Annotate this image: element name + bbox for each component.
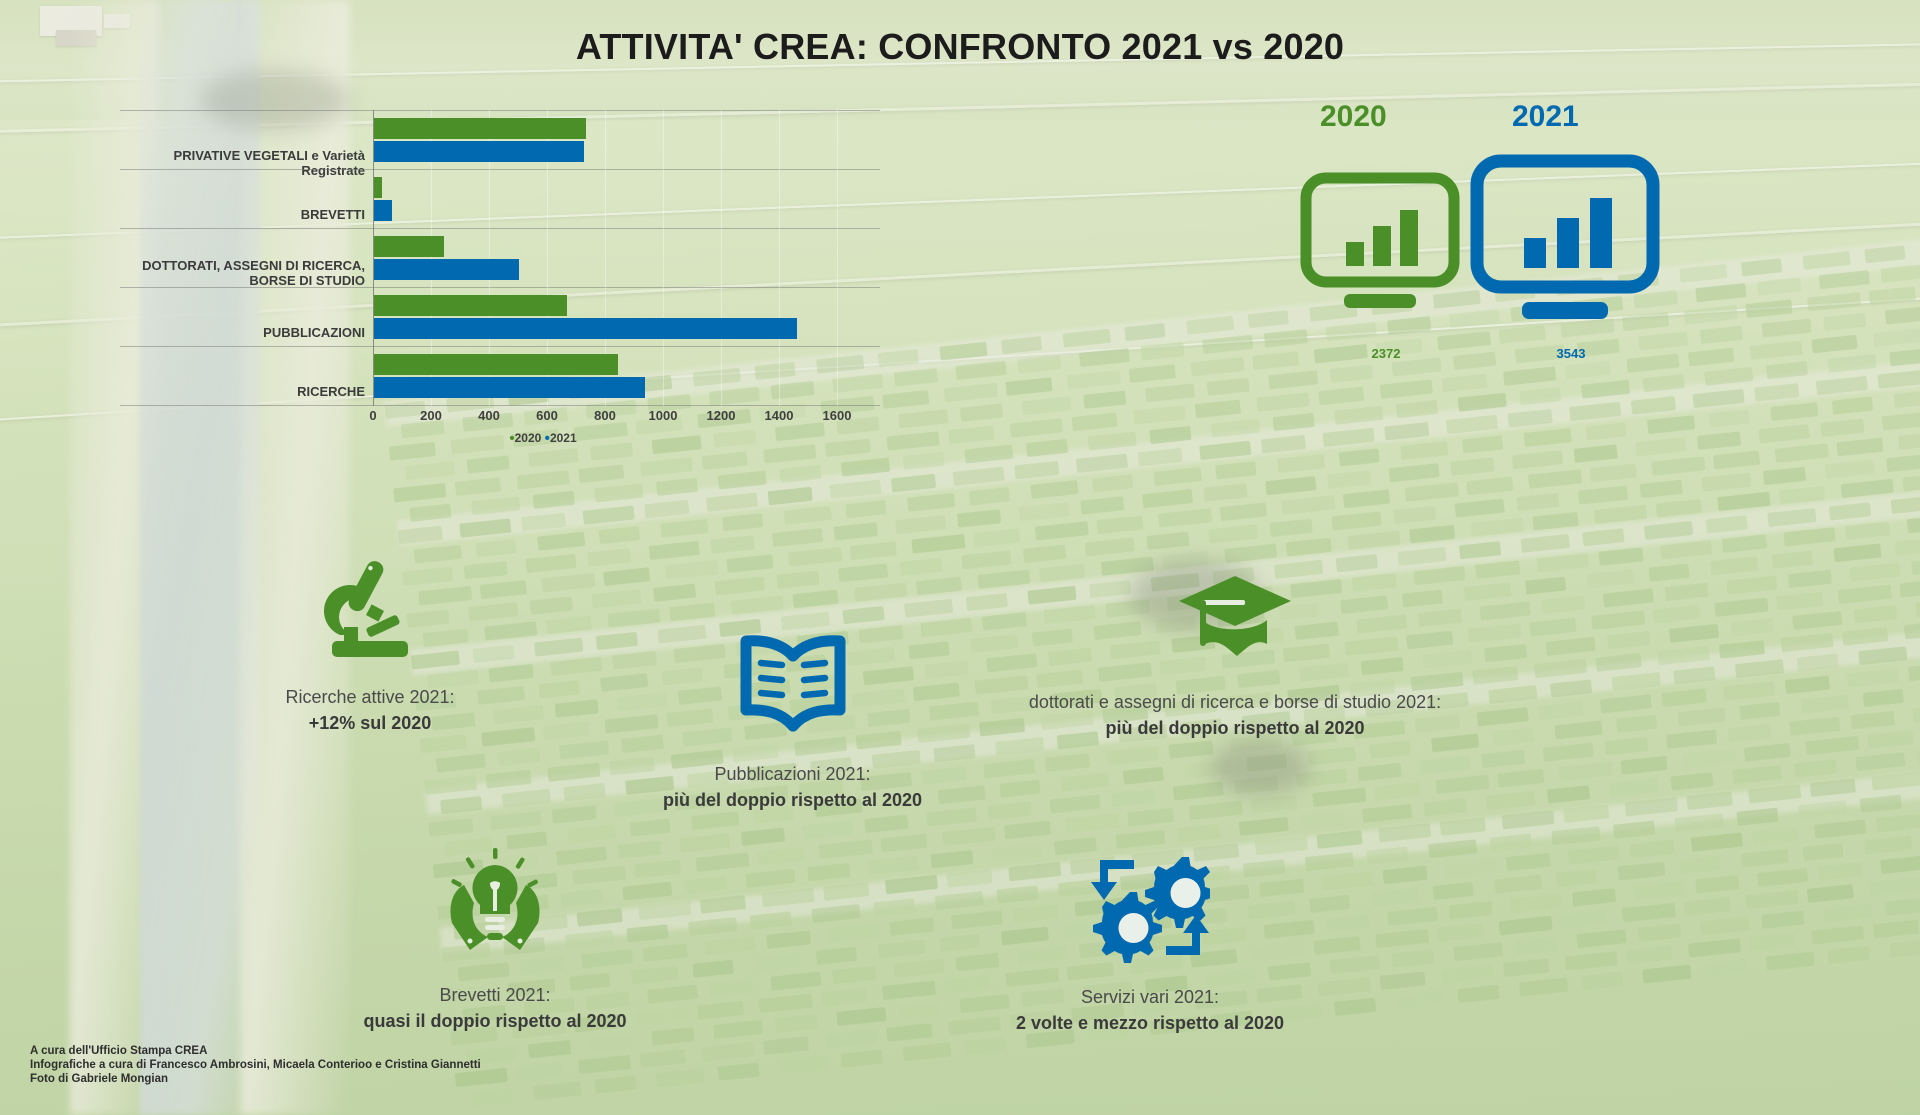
bar-2021-pubblicazioni bbox=[374, 318, 797, 339]
value-axis: 0 200 400 600 800 1000 1200 1400 1600 bbox=[373, 406, 880, 430]
gridline-vertical bbox=[721, 110, 722, 406]
callout-servizi: Servizi vari 2021: 2 volte e mezzo rispe… bbox=[940, 850, 1360, 1036]
total-year-2021: 2021 bbox=[1512, 100, 1579, 134]
bar-2021-brevetti bbox=[374, 200, 392, 221]
open-book-icon bbox=[625, 630, 960, 747]
bar-chart: PRIVATIVE VEGETALI e Varietà Registrate … bbox=[120, 110, 880, 445]
credits-line-3: Foto di Gabriele Mongian bbox=[30, 1072, 481, 1086]
x-tick-label: 400 bbox=[478, 408, 500, 423]
monitor-bar-chart-icon bbox=[1300, 172, 1460, 327]
chart-legend: •2020 •2021 bbox=[373, 430, 713, 447]
callout-line1: Servizi vari 2021: bbox=[940, 984, 1360, 1010]
gridline-vertical bbox=[779, 110, 780, 406]
bar-2020-ricerche bbox=[374, 354, 618, 375]
x-tick-label: 1600 bbox=[823, 408, 852, 423]
callout-line2: quasi il doppio rispetto al 2020 bbox=[330, 1008, 660, 1034]
credits-line-1: A cura dell'Ufficio Stampa CREA bbox=[30, 1044, 481, 1058]
monitor-bar-chart-icon bbox=[1470, 154, 1660, 337]
lightbulb-hands-icon bbox=[330, 845, 660, 968]
bar-2020-dottorati bbox=[374, 236, 444, 257]
callout-ricerche: Ricerche attive 2021: +12% sul 2020 bbox=[230, 555, 510, 736]
bar-2020-privative bbox=[374, 118, 586, 139]
x-tick-label: 600 bbox=[536, 408, 558, 423]
gridline bbox=[120, 346, 880, 347]
bar-2021-privative bbox=[374, 141, 584, 162]
callout-line2: +12% sul 2020 bbox=[230, 710, 510, 736]
totals-panel: 2020 2021 2372 3543 bbox=[1300, 100, 1720, 420]
gridline-vertical bbox=[663, 110, 664, 406]
x-tick-label: 200 bbox=[420, 408, 442, 423]
callout-pubblicazioni: Pubblicazioni 2021: più del doppio rispe… bbox=[625, 630, 960, 813]
x-tick-label: 0 bbox=[369, 408, 376, 423]
category-label: RICERCHE bbox=[115, 384, 365, 399]
x-tick-label: 1400 bbox=[765, 408, 794, 423]
total-year-2020: 2020 bbox=[1320, 100, 1387, 134]
credits: A cura dell'Ufficio Stampa CREA Infograf… bbox=[30, 1044, 481, 1086]
legend-label-2020: 2020 bbox=[515, 431, 542, 445]
callout-line1: dottorati e assegni di ricerca e borse d… bbox=[1000, 689, 1470, 715]
gridline bbox=[120, 110, 880, 111]
callout-brevetti: Brevetti 2021: quasi il doppio rispetto … bbox=[330, 845, 660, 1034]
x-tick-label: 800 bbox=[594, 408, 616, 423]
callout-line2: più del doppio rispetto al 2020 bbox=[1000, 715, 1470, 741]
category-label: BREVETTI bbox=[115, 207, 365, 222]
gridline-vertical bbox=[837, 110, 838, 406]
category-label: PRIVATIVE VEGETALI e Varietà Registrate bbox=[115, 148, 365, 178]
x-tick-label: 1000 bbox=[649, 408, 678, 423]
credits-line-2: Infografiche a cura di Francesco Ambrosi… bbox=[30, 1058, 481, 1072]
microscope-icon bbox=[230, 555, 510, 670]
total-value-2021: 3543 bbox=[1486, 346, 1656, 361]
gears-cycle-icon bbox=[940, 850, 1360, 970]
callout-line2: 2 volte e mezzo rispetto al 2020 bbox=[940, 1010, 1360, 1036]
page-title: ATTIVITA' CREA: CONFRONTO 2021 vs 2020 bbox=[0, 26, 1920, 68]
bar-2021-ricerche bbox=[374, 377, 645, 398]
x-tick-label: 1200 bbox=[707, 408, 736, 423]
total-value-2020: 2372 bbox=[1316, 346, 1456, 361]
bar-2021-dottorati bbox=[374, 259, 519, 280]
category-axis: PRIVATIVE VEGETALI e Varietà Registrate … bbox=[120, 110, 373, 406]
gridline bbox=[120, 287, 880, 288]
callout-line1: Ricerche attive 2021: bbox=[230, 684, 510, 710]
bar-2020-pubblicazioni bbox=[374, 295, 567, 316]
gridline bbox=[120, 169, 880, 170]
category-label: PUBBLICAZIONI bbox=[115, 325, 365, 340]
bar-2020-brevetti bbox=[374, 177, 382, 198]
callout-dottorati: dottorati e assegni di ricerca e borse d… bbox=[1000, 570, 1470, 741]
legend-label-2021: 2021 bbox=[550, 431, 577, 445]
gridline bbox=[120, 228, 880, 229]
callout-line2: più del doppio rispetto al 2020 bbox=[625, 787, 960, 813]
callout-line1: Pubblicazioni 2021: bbox=[625, 761, 960, 787]
category-label: DOTTORATI, ASSEGNI DI RICERCA, BORSE DI … bbox=[115, 258, 365, 288]
plot-area bbox=[373, 110, 880, 406]
callout-line1: Brevetti 2021: bbox=[330, 982, 660, 1008]
graduation-cap-icon bbox=[1000, 570, 1470, 675]
